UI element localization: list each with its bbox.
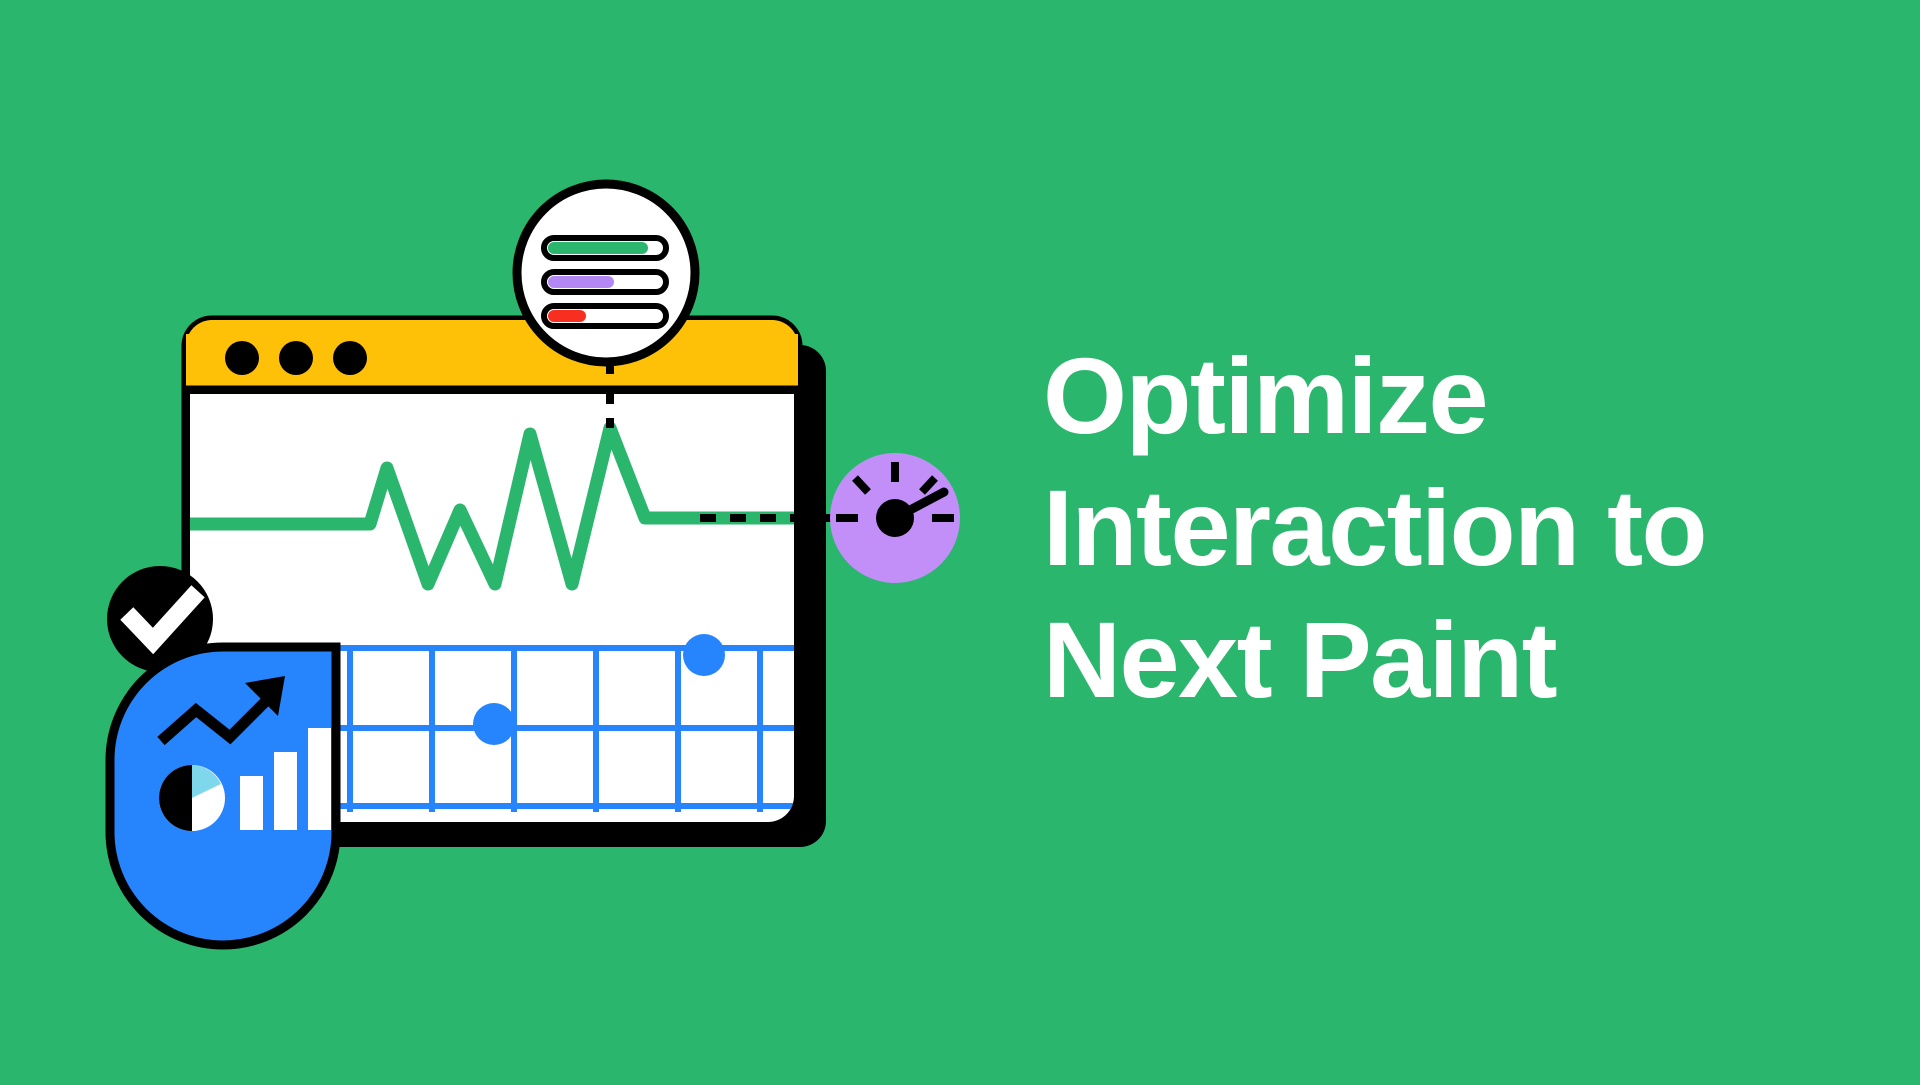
metric-bar-needs-improvement [544,272,666,292]
pie-chart-icon [159,765,225,831]
headline-line-3: Next Paint [1043,594,1903,726]
traffic-light-maximize-icon[interactable] [333,341,367,375]
metric-bar-good [544,238,666,258]
grid-data-dot[interactable] [683,634,725,676]
page-root: Optimize Interaction to Next Paint [0,0,1920,1080]
traffic-light-close-icon[interactable] [225,341,259,375]
traffic-light-dots[interactable] [225,341,367,375]
traffic-light-minimize-icon[interactable] [279,341,313,375]
speed-gauge-icon[interactable] [830,453,960,583]
hero-illustration [0,0,1030,1080]
headline-line-1: Optimize [1043,330,1903,462]
page-title: Optimize Interaction to Next Paint [1043,330,1903,726]
metrics-popover-badge[interactable] [517,184,695,362]
analytics-droplet-icon[interactable] [110,647,336,945]
grid-data-dot[interactable] [473,703,515,745]
headline-line-2: Interaction to [1043,462,1903,594]
metric-bar-poor [544,306,666,326]
